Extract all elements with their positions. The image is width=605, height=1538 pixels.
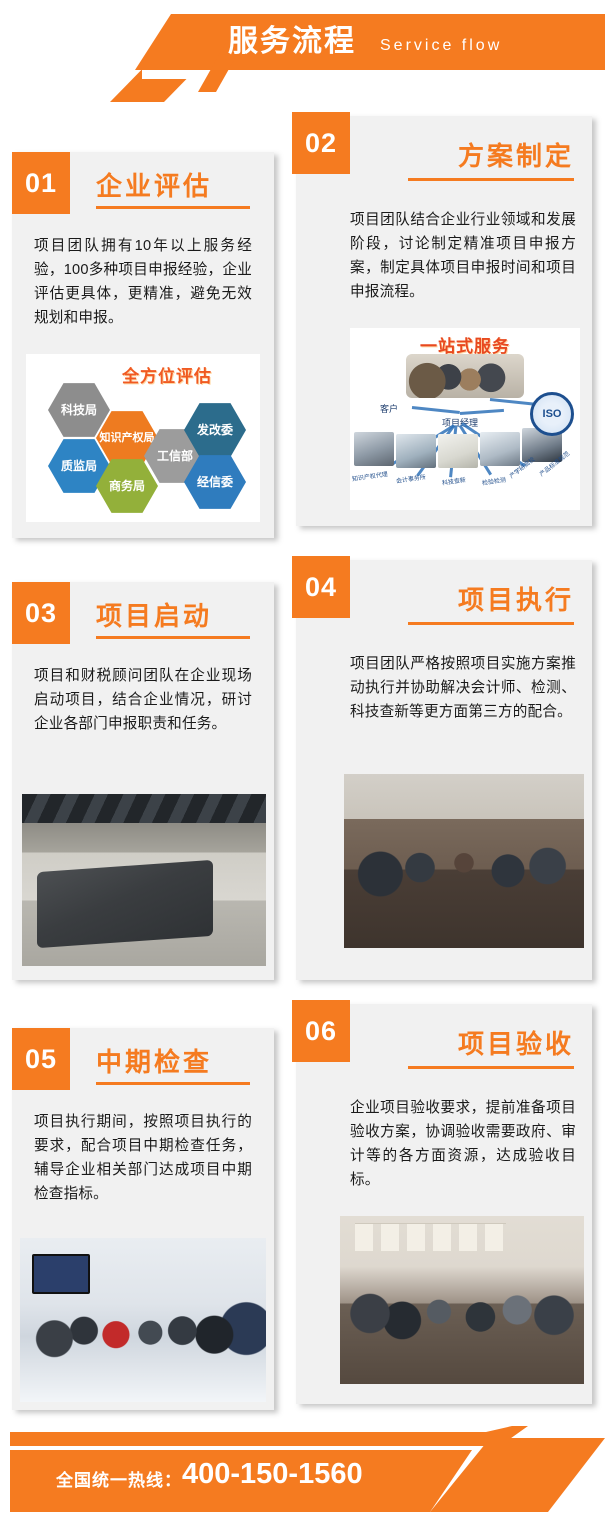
card-04-title-rule [408, 622, 574, 625]
infographic-page: 服务流程 Service flow 01 企业评估 项目团队拥有10年以上服务经… [0, 0, 605, 1538]
card-03-number-badge: 03 [12, 582, 70, 644]
card-04[interactable]: 04 项目执行 项目团队严格按照项目实施方案推动执行并协助解决会计师、检测、科技… [296, 560, 592, 980]
card-05-body: 项目执行期间，按照项目执行的要求，配合项目中期检查任务，辅导企业相关部门达成项目… [34, 1110, 252, 1206]
one-stop-node-customer: 客户 [380, 402, 398, 415]
one-stop-label-4: 检验检测 [481, 475, 506, 487]
one-stop-thumb-3 [438, 434, 478, 468]
one-stop-thumb-4 [480, 432, 520, 466]
photo-conference-room [22, 794, 266, 966]
card-01-body: 项目团队拥有10年以上服务经验，100多种项目申报经验，企业评估更具体，更精准，… [34, 234, 252, 330]
footer-banner: 全国统一热线： 400-150-1560 [0, 1426, 605, 1512]
card-01-title: 企业评估 [96, 166, 212, 203]
photo-acceptance-meeting [340, 1216, 584, 1384]
card-06[interactable]: 06 项目验收 企业项目验收要求，提前准备项目验收方案，协调验收需要政府、审计等… [296, 1004, 592, 1404]
arrow-to-customer [412, 406, 460, 414]
iso-seal-icon: ISO [530, 392, 574, 436]
one-stop-label-3: 科技查新 [441, 475, 466, 487]
one-stop-label-2: 会计事务所 [395, 472, 426, 485]
card-03-body: 项目和财税顾问团队在企业现场启动项目，结合企业情况，研讨企业各部门申报职责和任务… [34, 664, 252, 736]
card-06-media [340, 1216, 584, 1384]
card-05-title: 中期检查 [96, 1042, 212, 1079]
header-bar [135, 14, 605, 70]
card-02-title: 方案制定 [458, 136, 574, 173]
header-banner: 服务流程 Service flow [0, 14, 605, 92]
photo-working-meeting [344, 774, 584, 948]
card-04-media [344, 774, 584, 948]
footer-diagonal-slash [430, 1438, 605, 1512]
card-05-media [20, 1238, 266, 1402]
card-06-number-badge: 06 [292, 1000, 350, 1062]
card-04-body: 项目团队严格按照项目实施方案推动执行并协助解决会计师、检测、科技查新等更方面第三… [350, 652, 576, 724]
hex-chart-title: 全方位评估 [122, 362, 212, 387]
one-stop-diagram: 一站式服务 客户 项目经理 ISO 知识产权代理 会计事 [350, 328, 580, 510]
card-01-title-rule [96, 206, 250, 209]
hex-node-keji: 科技局 [48, 382, 110, 438]
hotline-label: 全国统一热线： [56, 1466, 182, 1491]
hex-chart: 全方位评估 科技局 知识产权局 质监局 工信部 商务局 发改委 经信委 [26, 354, 260, 522]
page-title: 服务流程 [228, 22, 356, 62]
one-stop-hero-photo [406, 354, 524, 398]
page-subtitle: Service flow [380, 32, 502, 60]
card-03-title-rule [96, 636, 250, 639]
one-stop-thumb-2 [396, 434, 436, 468]
card-03-media [22, 794, 266, 966]
card-03-title: 项目启动 [96, 596, 212, 633]
card-05-title-rule [96, 1082, 250, 1085]
card-01-media: 全方位评估 科技局 知识产权局 质监局 工信部 商务局 发改委 经信委 [26, 354, 260, 522]
one-stop-label-1: 知识产权代理 [351, 469, 388, 483]
arrow-to-manager [460, 409, 504, 415]
card-03[interactable]: 03 项目启动 项目和财税顾问团队在企业现场启动项目，结合企业情况，研讨企业各部… [12, 582, 274, 980]
card-02[interactable]: 02 方案制定 项目团队结合企业行业领域和发展阶段，讨论制定精准项目申报方案，制… [296, 116, 592, 526]
card-01-number-badge: 01 [12, 152, 70, 214]
photo-showroom-visit [20, 1238, 266, 1402]
card-05[interactable]: 05 中期检查 项目执行期间，按照项目执行的要求，配合项目中期检查任务，辅导企业… [12, 1028, 274, 1410]
card-05-number-badge: 05 [12, 1028, 70, 1090]
card-02-media: 一站式服务 客户 项目经理 ISO 知识产权代理 会计事 [350, 328, 580, 510]
card-06-body: 企业项目验收要求，提前准备项目验收方案，协调验收需要政府、审计等的各方面资源，达… [350, 1096, 576, 1192]
card-04-title: 项目执行 [458, 580, 574, 617]
hotline-number[interactable]: 400-150-1560 [182, 1458, 363, 1491]
card-01[interactable]: 01 企业评估 项目团队拥有10年以上服务经验，100多种项目申报经验，企业评估… [12, 152, 274, 538]
card-02-number-badge: 02 [292, 112, 350, 174]
card-02-title-rule [408, 178, 574, 181]
one-stop-thumb-1 [354, 432, 394, 466]
card-06-title: 项目验收 [458, 1024, 574, 1061]
card-06-title-rule [408, 1066, 574, 1069]
card-04-number-badge: 04 [292, 556, 350, 618]
card-02-body: 项目团队结合企业行业领域和发展阶段，讨论制定精准项目申报方案，制定具体项目申报时… [350, 208, 576, 304]
